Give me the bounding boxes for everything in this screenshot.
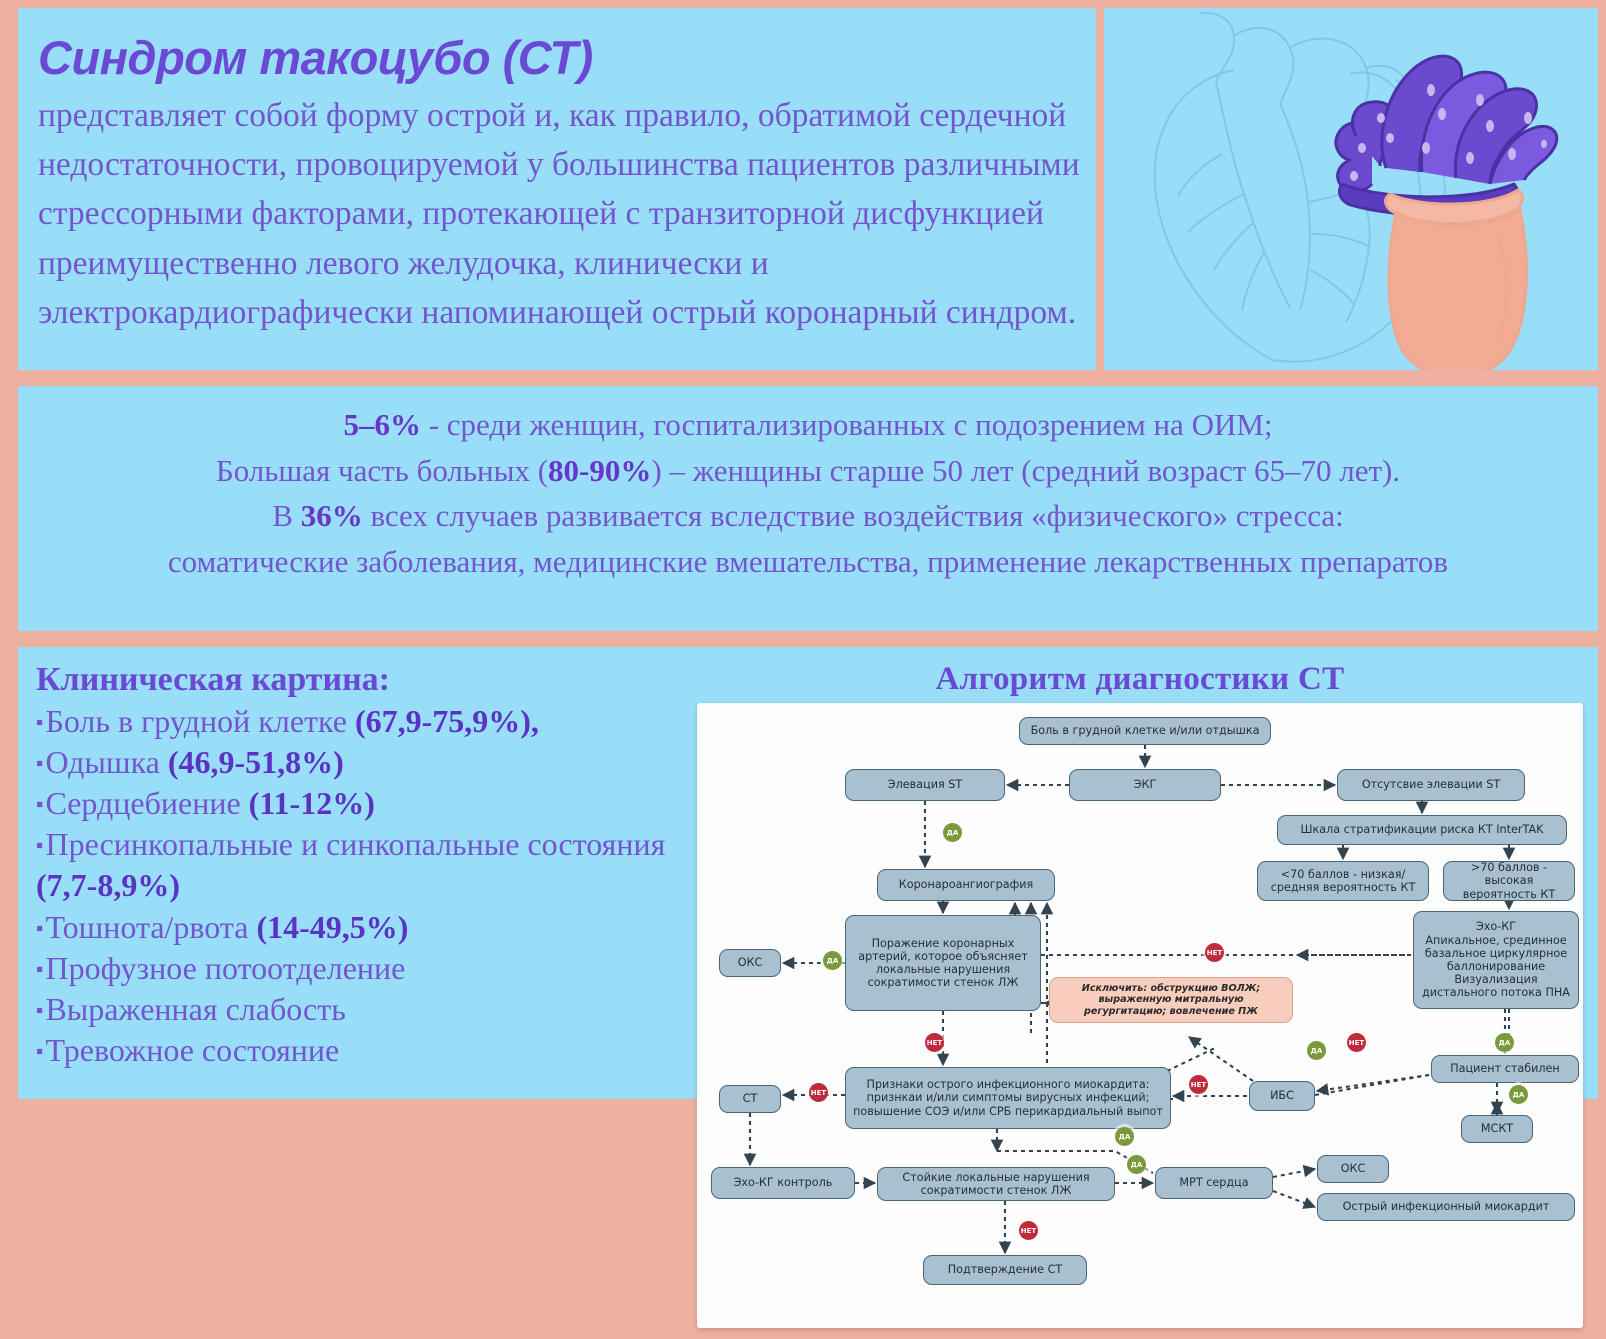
statistics-line: В 36% всех случаев развивается вследстви… xyxy=(36,493,1580,539)
statistics-line: 5–6% - среди женщин, госпитализированных… xyxy=(36,402,1580,448)
decision-chip-chip-no-echo: НЕТ xyxy=(1347,1033,1366,1052)
bullet-icon: ▪ xyxy=(36,998,43,1022)
flow-node-label: МРТ сердца xyxy=(1179,1176,1248,1189)
flow-node-chest-pain[interactable]: Боль в грудной клетке и/или отдышка xyxy=(1019,717,1271,745)
decision-chip-chip-yes-lesion: ДА xyxy=(823,951,842,970)
flow-node-st-node[interactable]: СТ xyxy=(719,1085,781,1113)
flow-node-label: Шкала стратификации риска КТ InterTAK xyxy=(1301,823,1544,836)
flow-node-label: СТ xyxy=(743,1092,758,1105)
flow-node-label: Пациент стабилен xyxy=(1450,1062,1559,1075)
flow-node-echo-kg[interactable]: Эхо-КГ Апикальное, срединное базальное ц… xyxy=(1413,911,1579,1009)
decision-chip-chip-yes-echo: ДА xyxy=(1495,1033,1514,1052)
statistics-line: соматические заболевания, медицинские вм… xyxy=(36,539,1580,585)
decision-chip-chip-yes-persist: ДА xyxy=(1127,1155,1146,1174)
flow-node-score-low[interactable]: <70 баллов - низкая/ средняя вероятность… xyxy=(1257,861,1429,901)
flow-node-coronary-lesion[interactable]: Поражение коронарных артерий, которое об… xyxy=(845,915,1041,1011)
bullet-icon: ▪ xyxy=(36,833,43,857)
diagnostic-algorithm-section: Алгоритм диагностики СТ xyxy=(682,647,1598,1339)
flow-node-label: ОКС xyxy=(738,956,763,969)
decision-chip-chip-no-ihd: НЕТ xyxy=(1189,1075,1208,1094)
algorithm-title: Алгоритм диагностики СТ xyxy=(682,647,1598,698)
flow-node-label: Стойкие локальные нарушения сократимости… xyxy=(884,1171,1108,1197)
clinical-and-algorithm-panel: Клиническая картина: ▪Боль в грудной кле… xyxy=(18,647,1598,1099)
bullet-icon: ▪ xyxy=(36,916,43,940)
flow-node-ecg[interactable]: ЭКГ xyxy=(1069,769,1221,801)
bullet-icon: ▪ xyxy=(36,792,43,816)
definition-panel: Синдром такоцубо (СТ) представляет собой… xyxy=(18,8,1096,370)
decision-chip-chip-yes-ihd: ДА xyxy=(1307,1041,1326,1060)
flow-node-label: <70 баллов - низкая/ средняя вероятность… xyxy=(1264,868,1422,894)
decision-chip-chip-no-confirm: НЕТ xyxy=(1019,1221,1038,1240)
flow-node-label: Коронароангиография xyxy=(899,878,1033,891)
page-title: Синдром такоцубо (СТ) xyxy=(18,8,1096,85)
flow-node-label: >70 баллов - высокая вероятность КТ xyxy=(1450,861,1568,901)
flow-node-label: ИБС xyxy=(1270,1089,1294,1102)
flow-node-label: Эхо-КГ Апикальное, срединное базальное ц… xyxy=(1420,920,1572,999)
bullet-icon: ▪ xyxy=(36,1039,43,1063)
flow-node-myocarditis-signs[interactable]: Признаки острого инфекционного миокардит… xyxy=(845,1067,1171,1129)
flow-node-label: Острый инфекционный миокардит xyxy=(1343,1200,1550,1213)
flow-node-label: ЭКГ xyxy=(1134,778,1157,791)
flow-node-patient-stable[interactable]: Пациент стабилен xyxy=(1431,1055,1579,1083)
clinical-picture-title: Клиническая картина: xyxy=(36,661,686,699)
flow-node-acs-right[interactable]: ОКС xyxy=(1317,1155,1389,1183)
takotsubo-octopus-pot-icon xyxy=(1104,8,1598,370)
bullet-icon: ▪ xyxy=(36,751,43,775)
flow-node-no-st-elevation[interactable]: Отсутсвие элевации ST xyxy=(1337,769,1525,801)
clinical-symptom-list: ▪Боль в грудной клетке (67,9-75,9%),▪Оды… xyxy=(36,701,686,1071)
decision-chip-chip-yes-msct: ДА xyxy=(1509,1085,1528,1104)
clinical-symptom-item: ▪Тошнота/рвота (14-49,5%) xyxy=(36,907,686,948)
flow-node-persistent-wm[interactable]: Стойкие локальные нарушения сократимости… xyxy=(877,1167,1115,1201)
clinical-symptom-item: ▪Профузное потоотделение xyxy=(36,948,686,989)
decision-chip-chip-no-middle: НЕТ xyxy=(1205,943,1224,962)
flow-node-label: МСКТ xyxy=(1481,1122,1513,1135)
clinical-symptom-item: ▪Выраженная слабость xyxy=(36,989,686,1030)
statistics-panel: 5–6% - среди женщин, госпитализированных… xyxy=(18,386,1598,631)
flow-node-label: Поражение коронарных артерий, которое об… xyxy=(852,937,1034,990)
bullet-icon: ▪ xyxy=(36,710,43,734)
flow-node-label: Исключить: обструкцию ВОЛЖ; выраженную м… xyxy=(1056,983,1286,1017)
flow-node-ihd[interactable]: ИБС xyxy=(1249,1081,1315,1111)
flow-node-label: Признаки острого инфекционного миокардит… xyxy=(852,1078,1164,1118)
takotsubo-illustration-panel xyxy=(1104,8,1598,370)
decision-chip-chip-no-lesion-down: НЕТ xyxy=(925,1033,944,1052)
flow-node-label: Отсутсвие элевации ST xyxy=(1362,778,1500,791)
clinical-symptom-item: ▪Сердцебиение (11-12%) xyxy=(36,783,686,824)
clinical-symptom-item: ▪Пресинкопальные и синкопальные состояни… xyxy=(36,824,686,906)
clinical-symptom-item: ▪Одышка (46,9-51,8%) xyxy=(36,742,686,783)
statistics-text: 5–6% - среди женщин, госпитализированных… xyxy=(18,386,1598,584)
flow-node-label: Эхо-КГ контроль xyxy=(734,1176,833,1189)
flow-node-intertak-scale[interactable]: Шкала стратификации риска КТ InterTAK xyxy=(1277,815,1567,845)
clinical-picture-section: Клиническая картина: ▪Боль в грудной кле… xyxy=(36,661,686,1071)
flow-node-label: ОКС xyxy=(1341,1162,1366,1175)
algorithm-flowchart-card: Боль в грудной клетке и/или отдышкаЭКГЭл… xyxy=(697,703,1583,1328)
flow-node-score-high[interactable]: >70 баллов - высокая вероятность КТ xyxy=(1443,861,1575,901)
flow-node-msct[interactable]: МСКТ xyxy=(1461,1115,1533,1143)
decision-chip-chip-no-myo: НЕТ xyxy=(809,1083,828,1102)
flow-node-label: Элевация ST xyxy=(888,778,962,791)
statistics-line: Большая часть больных (80-90%) – женщины… xyxy=(36,448,1580,494)
clinical-symptom-item: ▪Тревожное состояние xyxy=(36,1030,686,1071)
decision-chip-chip-yes-mri: ДА xyxy=(1115,1127,1134,1146)
flow-node-echo-control[interactable]: Эхо-КГ контроль xyxy=(711,1167,855,1199)
clinical-symptom-item: ▪Боль в грудной клетке (67,9-75,9%), xyxy=(36,701,686,742)
bullet-icon: ▪ xyxy=(36,957,43,981)
flow-node-coronary-angio[interactable]: Коронароангиография xyxy=(877,869,1055,901)
flow-node-exclude-box[interactable]: Исключить: обструкцию ВОЛЖ; выраженную м… xyxy=(1049,977,1293,1023)
flow-node-acs-left[interactable]: ОКС xyxy=(719,949,781,977)
flow-node-acute-myocarditis[interactable]: Острый инфекционный миокардит xyxy=(1317,1193,1575,1221)
flow-node-mri-heart[interactable]: МРТ сердца xyxy=(1155,1167,1273,1199)
decision-chip-chip-yes-st: ДА xyxy=(943,823,962,842)
definition-text: представляет собой форму острой и, как п… xyxy=(18,85,1096,337)
flow-node-confirm-ct[interactable]: Подтверждение СТ xyxy=(923,1255,1087,1285)
flow-node-label: Подтверждение СТ xyxy=(948,1263,1062,1276)
flow-node-st-elevation[interactable]: Элевация ST xyxy=(845,769,1005,801)
flow-node-label: Боль в грудной клетке и/или отдышка xyxy=(1031,724,1260,737)
